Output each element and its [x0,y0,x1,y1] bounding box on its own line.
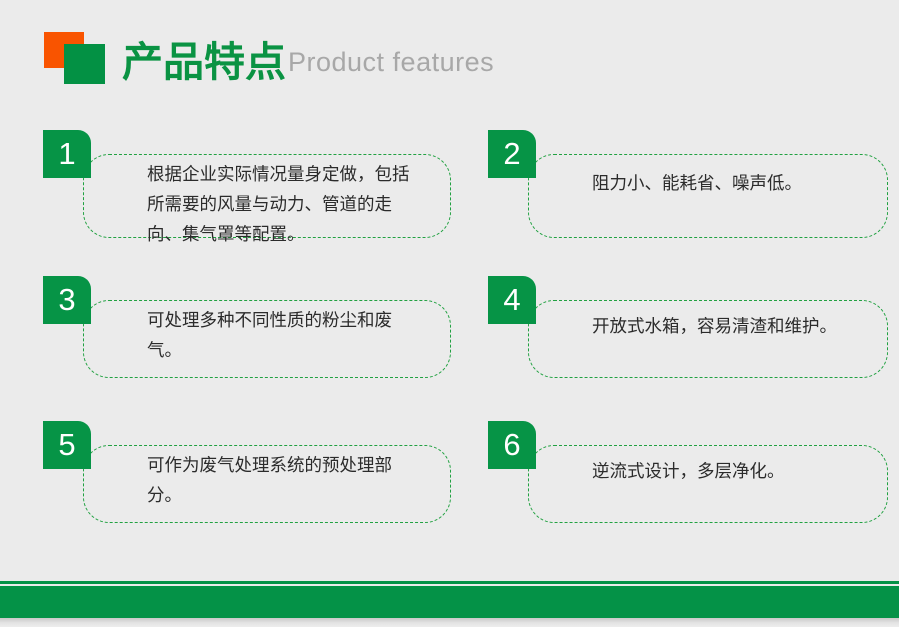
feature-item-3: 3 可处理多种不同性质的粉尘和废气。 [43,276,451,378]
feature-number-label: 1 [43,130,91,178]
feature-number-badge: 5 [43,421,91,469]
feature-text: 阻力小、能耗省、噪声低。 [592,169,848,199]
feature-text: 可处理多种不同性质的粉尘和废气。 [147,306,411,366]
feature-item-5: 5 可作为废气处理系统的预处理部分。 [43,421,451,523]
feature-number-label: 6 [488,421,536,469]
page-title: 产品特点 [122,40,286,84]
feature-item-1: 1 根据企业实际情况量身定做，包括所需要的风量与动力、管道的走向、集气罩等配置。 [43,130,451,238]
footer-bar [0,586,899,618]
feature-text: 逆流式设计，多层净化。 [592,457,848,487]
feature-number-badge: 1 [43,130,91,178]
page-subtitle: Product features [288,40,494,84]
feature-item-6: 6 逆流式设计，多层净化。 [488,421,888,523]
logo-squares-icon [44,32,108,84]
page-header: 产品特点 Product features [44,26,494,84]
feature-number-badge: 4 [488,276,536,324]
feature-number-label: 5 [43,421,91,469]
footer-shadow [0,618,899,627]
feature-number-badge: 3 [43,276,91,324]
feature-text: 根据企业实际情况量身定做，包括所需要的风量与动力、管道的走向、集气罩等配置。 [147,160,411,250]
feature-number-badge: 2 [488,130,536,178]
feature-number-label: 2 [488,130,536,178]
feature-item-4: 4 开放式水箱，容易清渣和维护。 [488,276,888,378]
footer-accent-line [0,581,899,584]
feature-text: 可作为废气处理系统的预处理部分。 [147,451,411,511]
feature-number-badge: 6 [488,421,536,469]
feature-number-label: 4 [488,276,536,324]
feature-text: 开放式水箱，容易清渣和维护。 [592,312,848,342]
feature-item-2: 2 阻力小、能耗省、噪声低。 [488,130,888,238]
feature-number-label: 3 [43,276,91,324]
logo-green-square-icon [64,44,105,84]
